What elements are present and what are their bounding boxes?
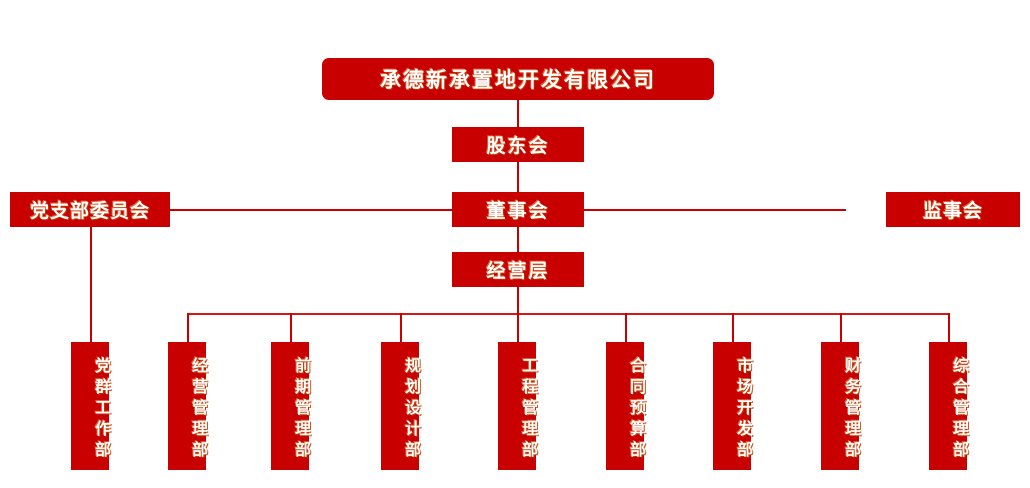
connector-company-to-shareholders [517,100,519,128]
node-board-of-directors[interactable]: 董事会 [452,192,584,227]
node-company-title[interactable]: 承德新承置地开发有限公司 [322,58,714,100]
connector-shareholders-to-board [517,161,519,193]
node-department-4[interactable]: 规划设计部 [381,342,419,470]
connector-bus-to-dept9 [948,313,950,343]
node-department-5[interactable]: 工程管理部 [498,342,536,470]
node-department-9[interactable]: 综合管理部 [929,342,967,470]
connector-management-to-bus [517,287,519,314]
node-party-branch-committee[interactable]: 党支部委员会 [10,192,170,227]
connector-department-bus [187,313,949,315]
connector-board-to-management [517,226,519,252]
connector-bus-to-dept6 [625,313,627,343]
node-department-1[interactable]: 党群工作部 [71,342,109,470]
node-shareholders-meeting[interactable]: 股东会 [452,127,584,162]
connector-bus-to-dept8 [840,313,842,343]
node-board-of-supervisors[interactable]: 监事会 [886,192,1020,227]
connector-bus-to-dept2 [187,313,189,343]
node-department-2[interactable]: 经营管理部 [168,342,206,470]
node-department-6[interactable]: 合同预算部 [606,342,644,470]
node-department-3[interactable]: 前期管理部 [271,342,309,470]
connector-bus-to-dept7 [732,313,734,343]
connector-bus-to-dept4 [400,313,402,343]
node-management-level[interactable]: 经营层 [452,252,584,287]
connector-bus-to-dept3 [290,313,292,343]
node-department-7[interactable]: 市场开发部 [713,342,751,470]
connector-party-to-dept1 [90,226,92,343]
node-department-8[interactable]: 财务管理部 [821,342,859,470]
org-chart-canvas: 承德新承置地开发有限公司 股东会 党支部委员会 董事会 监事会 经营层 党群工作… [0,0,1030,488]
connector-bus-to-dept5 [517,313,519,343]
